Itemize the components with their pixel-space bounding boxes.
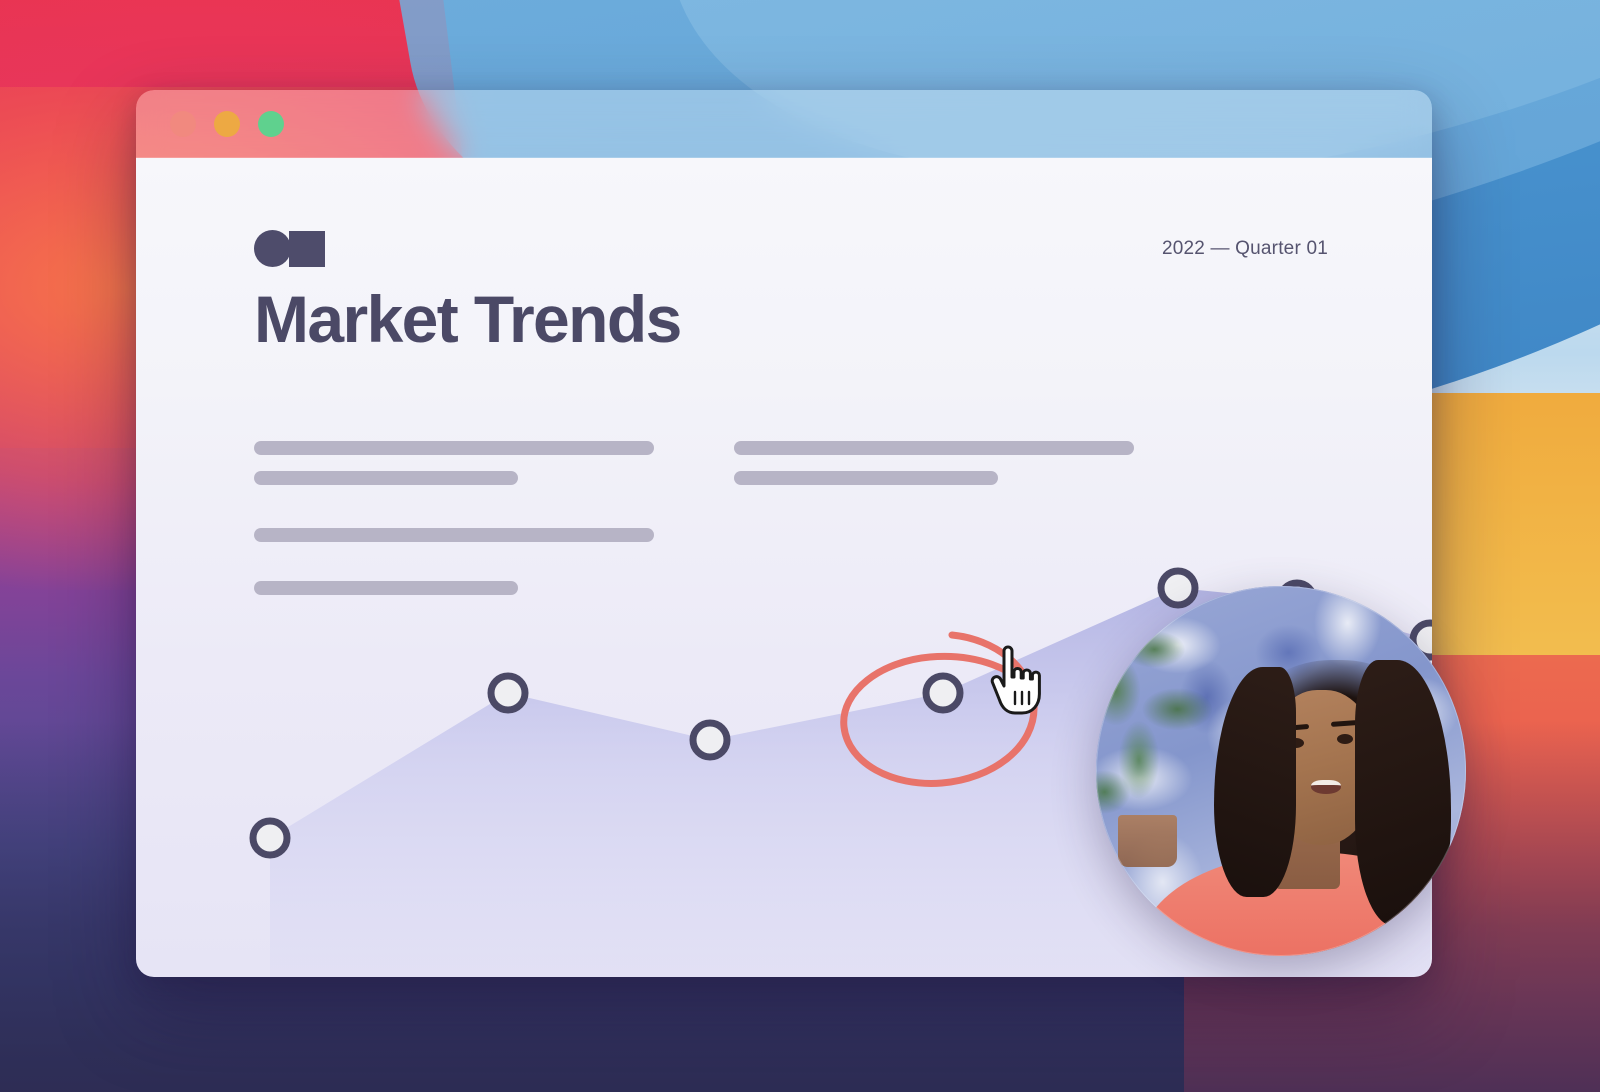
chart-data-point[interactable] [253,821,287,855]
webcam-video [1096,586,1466,956]
chart-data-point[interactable] [491,676,525,710]
page-title: Market Trends [254,286,681,352]
close-button[interactable] [170,111,196,137]
annotation-ellipse [826,617,1086,827]
body-placeholder-line [254,471,518,485]
brand-mark-icon [254,230,325,267]
logo-circle-icon [254,230,291,267]
body-placeholder-line [254,441,654,455]
presenter-webcam-bubble[interactable] [1096,586,1466,956]
logo-square-icon [289,231,325,267]
period-label: 2022 — Quarter 01 [1162,238,1328,260]
maximize-button[interactable] [258,111,284,137]
webcam-plant-pot [1118,815,1177,867]
body-placeholder-line [734,441,1134,455]
chart-data-point[interactable] [693,723,727,757]
presenter-mouth [1311,780,1341,794]
pointing-hand-cursor [984,645,1044,717]
slide-header: 2022 — Quarter 01 [254,230,1328,267]
body-placeholder-line [734,471,998,485]
window-titlebar [136,90,1432,158]
minimize-button[interactable] [214,111,240,137]
presenter-eye-right [1337,734,1353,744]
